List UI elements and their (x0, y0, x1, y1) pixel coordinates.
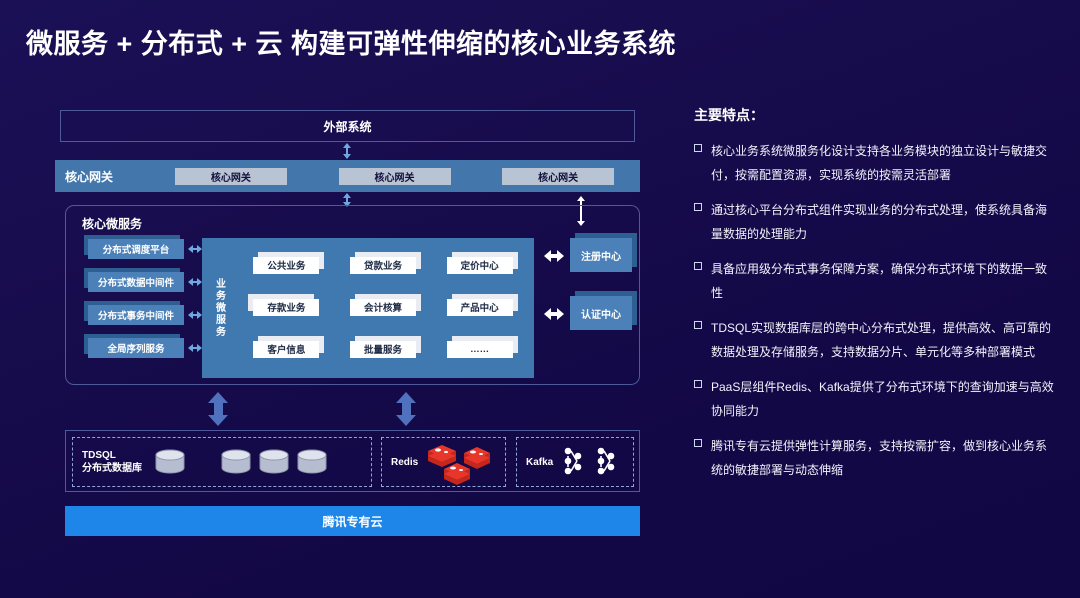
tdsql-cylinder-row (154, 449, 328, 475)
database-cylinder-icon (296, 449, 328, 475)
arrow-head-down (396, 415, 416, 426)
gateway-chip: 核心网关 (339, 168, 451, 185)
feature-text: PaaS层组件Redis、Kafka提供了分布式环境下的查询加速与高效协同能力 (711, 375, 1054, 423)
tdsql-label-line1: TDSQL (82, 449, 142, 462)
business-card-label: 公共业务 (253, 257, 319, 274)
arrow-core-to-data-left (208, 392, 228, 426)
cloud-bar-label: 腾讯专有云 (322, 513, 382, 530)
arrow-head-right (557, 308, 564, 320)
arrow-biz-to-registry (544, 249, 564, 262)
square-bullet-icon (694, 262, 702, 270)
business-card[interactable]: 定价中心 (447, 257, 513, 274)
features-heading: 主要特点： (694, 105, 1054, 125)
registry-center-label: 注册中心 (570, 238, 632, 272)
business-card[interactable]: 会计核算 (350, 299, 416, 316)
database-cylinder-icon (258, 449, 290, 475)
arrow-data-middleware-to-biz (188, 277, 202, 286)
kafka-icon (559, 442, 629, 482)
business-card[interactable]: 存款业务 (253, 299, 319, 316)
service-item-scheduler[interactable]: 分布式调度平台 (88, 239, 184, 259)
auth-center-label: 认证中心 (570, 296, 632, 330)
arrow-head-down (343, 154, 351, 159)
auth-center-box[interactable]: 认证中心 (570, 296, 632, 330)
feature-text: TDSQL实现数据库层的跨中心分布式处理，提供高效、高可靠的数据处理及存储服务，… (711, 316, 1054, 364)
arrow-head-left (544, 308, 551, 320)
registry-center-box[interactable]: 注册中心 (570, 238, 632, 272)
feature-text: 腾讯专有云提供弹性计算服务，支持按需扩容，做到核心业务系统的敏捷部署与动态伸缩 (711, 434, 1054, 482)
feature-item: 核心业务系统微服务化设计支持各业务模块的独立设计与敏捷交付，按需配置资源，实现系… (694, 139, 1054, 187)
square-bullet-icon (694, 380, 702, 388)
tdsql-box: TDSQL 分布式数据库 (72, 437, 372, 487)
arrow-scheduler-to-biz (188, 244, 202, 253)
service-item-global-sequence[interactable]: 全局序列服务 (88, 338, 184, 358)
architecture-diagram: 外部系统 核心网关 核心网关 核心网关 核心网关 核心微服务 (55, 110, 640, 540)
business-card-label: …… (447, 341, 513, 358)
business-card[interactable]: 贷款业务 (350, 257, 416, 274)
business-card[interactable]: …… (447, 341, 513, 358)
feature-item: TDSQL实现数据库层的跨中心分布式处理，提供高效、高可靠的数据处理及存储服务，… (694, 316, 1054, 364)
database-cylinder-icon (154, 449, 186, 475)
core-microservices-title: 核心微服务 (82, 215, 142, 232)
arrow-tx-middleware-to-biz (188, 310, 202, 319)
service-item-tx-middleware[interactable]: 分布式事务中间件 (88, 305, 184, 325)
business-card[interactable]: 产品中心 (447, 299, 513, 316)
feature-item: 腾讯专有云提供弹性计算服务，支持按需扩容，做到核心业务系统的敏捷部署与动态伸缩 (694, 434, 1054, 482)
business-microservices-label: 业务微服务 (202, 238, 236, 378)
tdsql-label: TDSQL 分布式数据库 (82, 449, 142, 475)
square-bullet-icon (694, 203, 702, 211)
redis-icon (424, 439, 500, 485)
kafka-box: Kafka (516, 437, 634, 487)
feature-item: 具备应用级分布式事务保障方案，确保分布式环境下的数据一致性 (694, 257, 1054, 305)
arrow-shaft (214, 403, 223, 415)
feature-text: 核心业务系统微服务化设计支持各业务模块的独立设计与敏捷交付，按需配置资源，实现系… (711, 139, 1054, 187)
arrow-head-down (208, 415, 228, 426)
arrow-biz-to-auth (544, 307, 564, 320)
business-card[interactable]: 公共业务 (253, 257, 319, 274)
business-card-label: 会计核算 (350, 299, 416, 316)
business-card-label: 批量服务 (350, 341, 416, 358)
gateway-chip-slot-3: 核心网关 (476, 168, 640, 185)
external-system-box: 外部系统 (60, 110, 635, 142)
gateway-chip: 核心网关 (502, 168, 614, 185)
service-item-label: 分布式调度平台 (88, 239, 184, 259)
gateway-chip-slot-1: 核心网关 (149, 168, 313, 185)
gateway-chip-slot-2: 核心网关 (313, 168, 477, 185)
external-system-label: 外部系统 (323, 118, 371, 135)
arrow-core-to-data-right (396, 392, 416, 426)
arrow-external-to-gateway (342, 143, 351, 159)
arrow-head-up (208, 392, 228, 403)
arrow-head-left (544, 250, 551, 262)
arrow-global-sequence-to-biz (188, 343, 202, 352)
business-card-label: 客户信息 (253, 341, 319, 358)
feature-item: 通过核心平台分布式组件实现业务的分布式处理，使系统具备海量数据的处理能力 (694, 198, 1054, 246)
database-cylinder-icon (220, 449, 252, 475)
core-gateway-title: 核心网关 (65, 168, 149, 185)
tencent-private-cloud-bar: 腾讯专有云 (65, 506, 640, 536)
core-gateway-bar: 核心网关 核心网关 核心网关 核心网关 (55, 160, 640, 192)
features-panel: 主要特点： 核心业务系统微服务化设计支持各业务模块的独立设计与敏捷交付，按需配置… (694, 105, 1054, 493)
square-bullet-icon (694, 144, 702, 152)
square-bullet-icon (694, 321, 702, 329)
square-bullet-icon (694, 439, 702, 447)
arrow-head-up (396, 392, 416, 403)
business-card-label: 贷款业务 (350, 257, 416, 274)
service-item-label: 分布式数据中间件 (88, 272, 184, 292)
business-microservices-block: 业务微服务 公共业务 贷款业务 定价中心 存款业务 (202, 238, 534, 378)
business-card-label: 产品中心 (447, 299, 513, 316)
redis-box: Redis (381, 437, 506, 487)
business-card[interactable]: 批量服务 (350, 341, 416, 358)
service-item-label: 全局序列服务 (88, 338, 184, 358)
arrow-head-right (557, 250, 564, 262)
business-card[interactable]: 客户信息 (253, 341, 319, 358)
tdsql-label-line2: 分布式数据库 (82, 462, 142, 475)
service-item-label: 分布式事务中间件 (88, 305, 184, 325)
data-layer-panel: TDSQL 分布式数据库 (65, 430, 640, 492)
arrow-shaft (402, 403, 411, 415)
gateway-chip: 核心网关 (175, 168, 287, 185)
feature-item: PaaS层组件Redis、Kafka提供了分布式环境下的查询加速与高效协同能力 (694, 375, 1054, 423)
business-card-label: 定价中心 (447, 257, 513, 274)
redis-label: Redis (391, 456, 418, 469)
kafka-label: Kafka (526, 456, 553, 469)
core-microservices-panel: 核心微服务 分布式调度平台 分布式数据中间件 分布式事务中间件 全局序列服务 (65, 205, 640, 385)
business-card-label: 存款业务 (253, 299, 319, 316)
service-item-data-middleware[interactable]: 分布式数据中间件 (88, 272, 184, 292)
feature-text: 具备应用级分布式事务保障方案，确保分布式环境下的数据一致性 (711, 257, 1054, 305)
feature-text: 通过核心平台分布式组件实现业务的分布式处理，使系统具备海量数据的处理能力 (711, 198, 1054, 246)
page-title: 微服务 + 分布式 + 云 构建可弹性伸缩的核心业务系统 (26, 22, 676, 61)
business-cards-grid: 公共业务 贷款业务 定价中心 存款业务 会计核算 (236, 238, 534, 378)
